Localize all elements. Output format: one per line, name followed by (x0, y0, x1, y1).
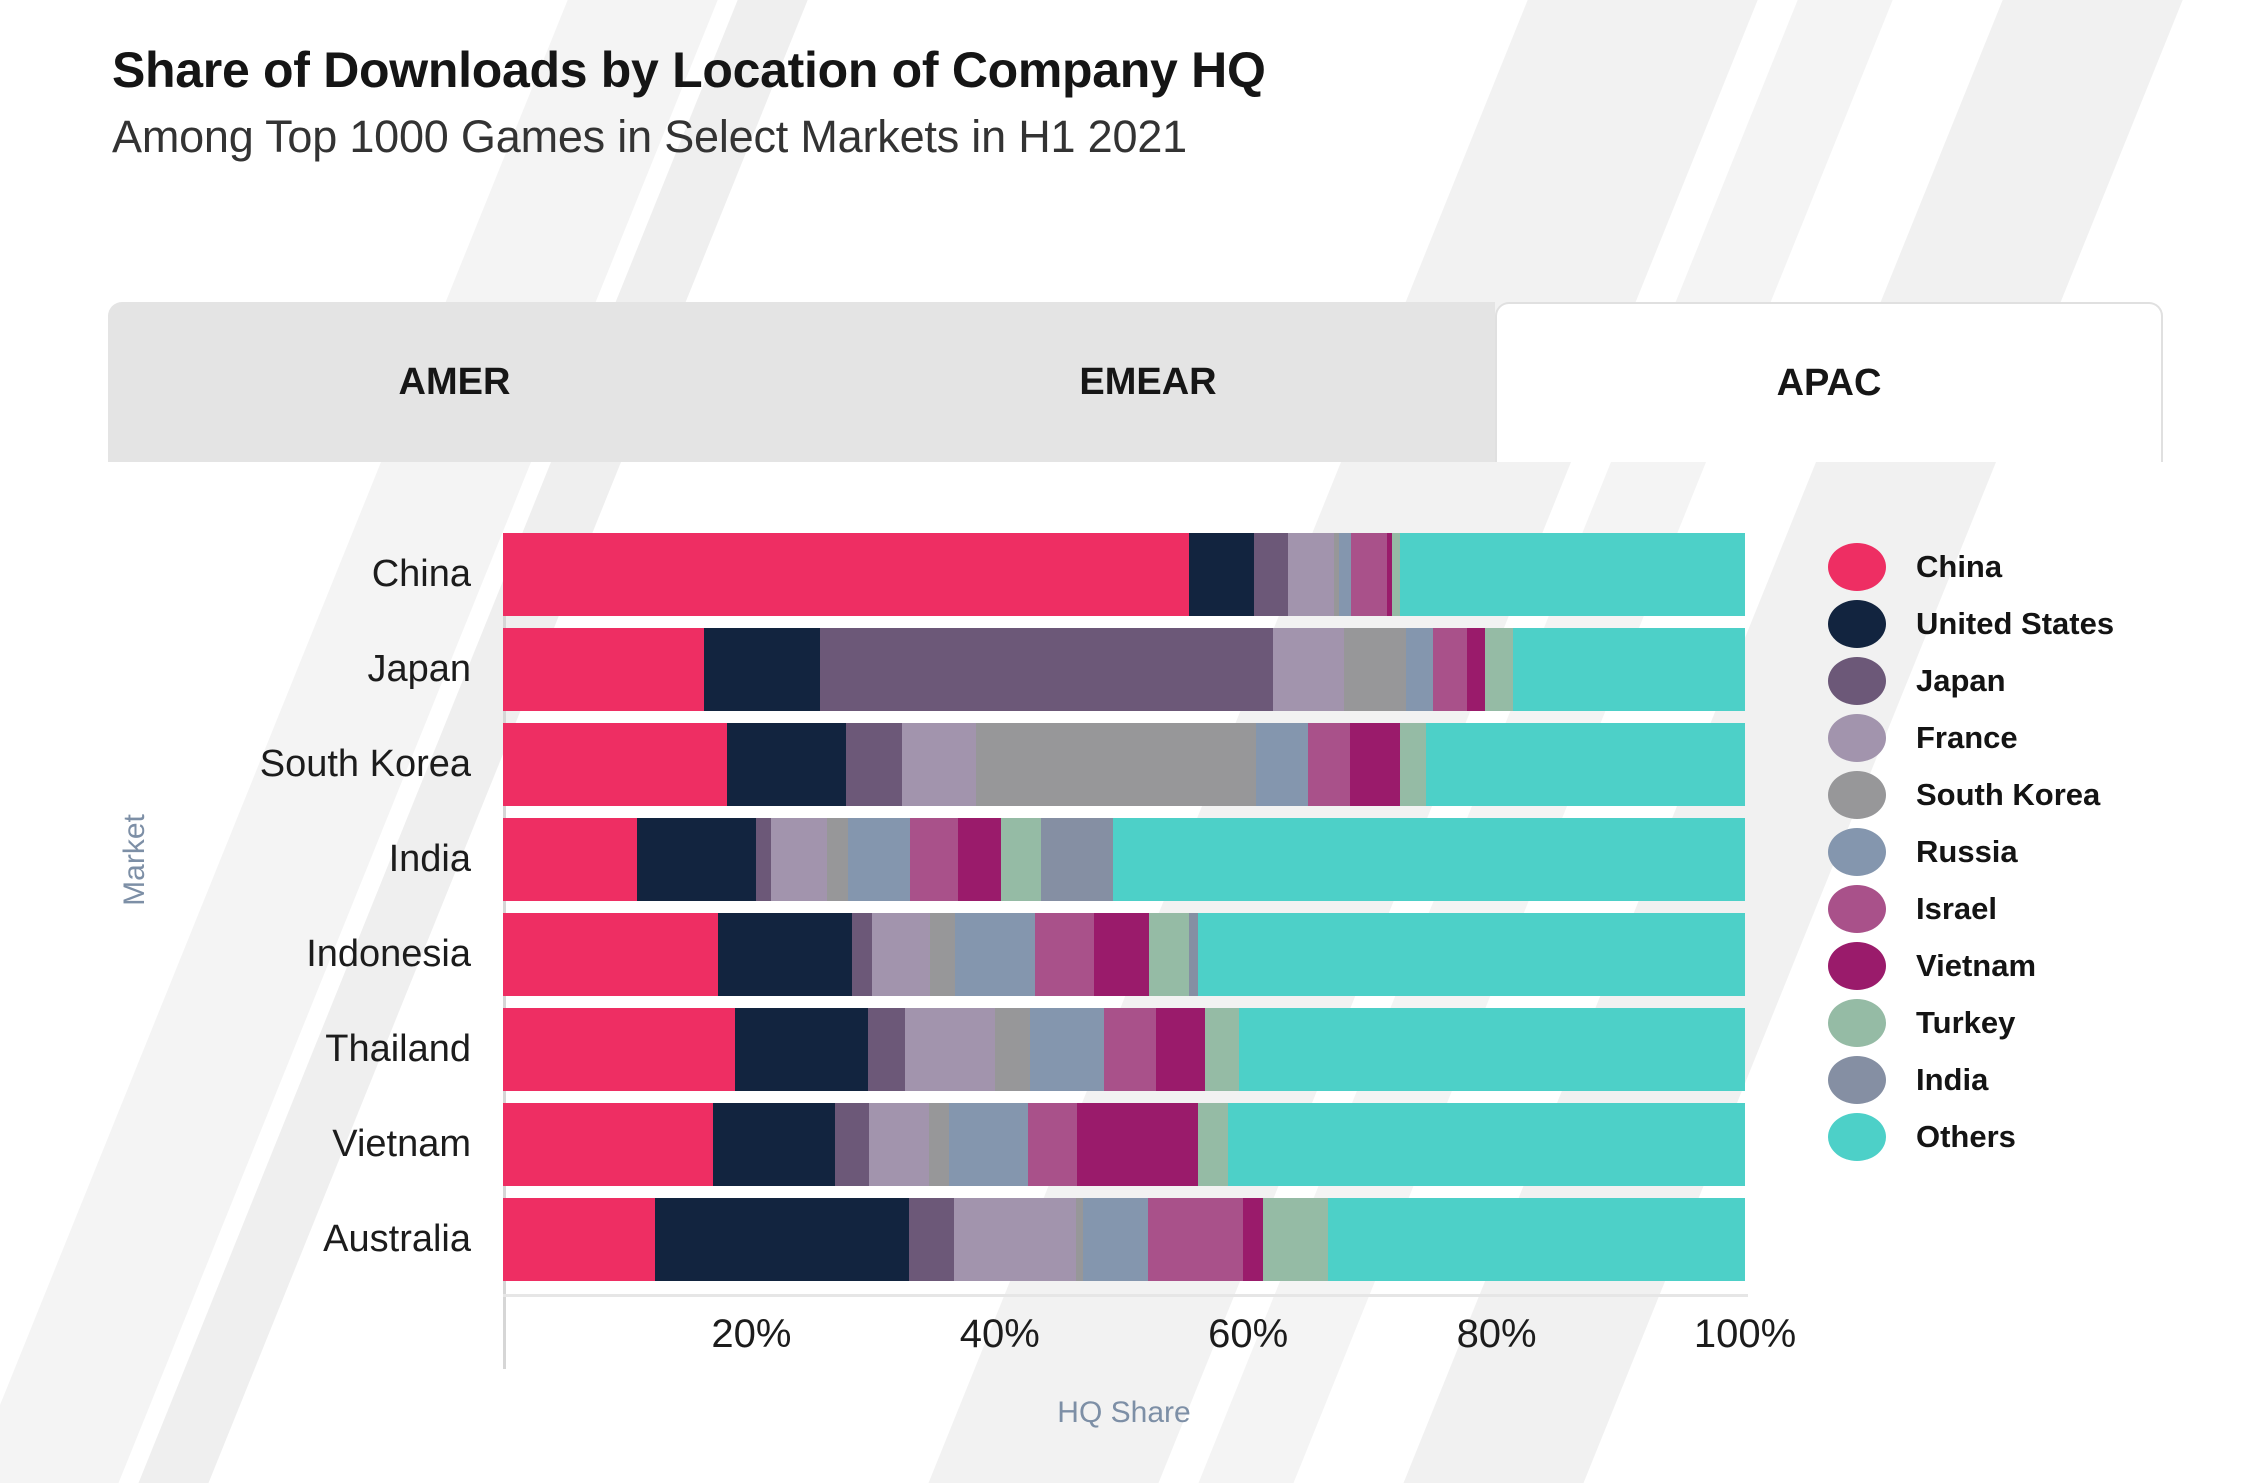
bar-segment[interactable] (1243, 1198, 1263, 1281)
bar-segment[interactable] (503, 723, 727, 806)
bar-row[interactable]: Vietnam (503, 1103, 1745, 1186)
legend-item-label: Others (1916, 1119, 2016, 1155)
bar-segment[interactable] (503, 1198, 655, 1281)
bar-segment[interactable] (503, 533, 1189, 616)
bar-segment[interactable] (718, 913, 852, 996)
bar-segment[interactable] (1400, 723, 1426, 806)
bar-segment[interactable] (995, 1008, 1030, 1091)
legend-item[interactable]: Others (1828, 1108, 2114, 1165)
bar-segment[interactable] (503, 628, 704, 711)
bar-row[interactable]: China (503, 533, 1745, 616)
legend-swatch-icon (1828, 600, 1886, 648)
bar-segment[interactable] (1513, 628, 1745, 711)
bar-segment[interactable] (713, 1103, 835, 1186)
bar-segment[interactable] (1148, 1198, 1244, 1281)
y-axis-label: Vietnam (332, 1103, 503, 1186)
x-axis-tick-label: 100% (1694, 1312, 1796, 1357)
page-title: Share of Downloads by Location of Compan… (112, 42, 1266, 100)
bar-segment[interactable] (820, 628, 1273, 711)
chart-page: Share of Downloads by Location of Compan… (0, 0, 2250, 1483)
bar-segment[interactable] (1035, 913, 1095, 996)
page-subtitle: Among Top 1000 Games in Select Markets i… (112, 108, 1266, 167)
bar-segment[interactable] (1189, 913, 1199, 996)
legend-swatch-icon (1828, 885, 1886, 933)
bar-segment[interactable] (958, 818, 1001, 901)
legend-swatch-icon (1828, 1056, 1886, 1104)
legend-item-label: Russia (1916, 834, 2018, 870)
y-axis-label: South Korea (260, 723, 503, 806)
region-tabs: AMER EMEAR APAC (108, 302, 2163, 462)
legend-item-label: China (1916, 549, 2002, 585)
y-axis-label: Japan (367, 628, 503, 711)
bar-segment[interactable] (1485, 628, 1512, 711)
bar-segment[interactable] (835, 1103, 870, 1186)
bar-segment[interactable] (1426, 723, 1745, 806)
bar-segment[interactable] (1149, 913, 1189, 996)
bar-segment[interactable] (1030, 1008, 1105, 1091)
bar-segment[interactable] (872, 913, 930, 996)
x-axis-line (503, 1294, 1748, 1297)
x-axis-title: HQ Share (503, 1396, 1745, 1430)
bar-segment[interactable] (503, 1103, 713, 1186)
legend-item[interactable]: Vietnam (1828, 937, 2114, 994)
bar-row[interactable]: Thailand (503, 1008, 1745, 1091)
bar-segment[interactable] (868, 1008, 905, 1091)
bar-segment[interactable] (503, 913, 718, 996)
bar-segment[interactable] (1256, 723, 1308, 806)
bar-segment[interactable] (1350, 723, 1400, 806)
bar-row[interactable]: Australia (503, 1198, 1745, 1281)
bar-segment[interactable] (848, 818, 910, 901)
legend-swatch-icon (1828, 828, 1886, 876)
legend-swatch-icon (1828, 657, 1886, 705)
legend-item-label: Japan (1916, 663, 2006, 699)
y-axis-label: Thailand (325, 1008, 503, 1091)
legend-swatch-icon (1828, 771, 1886, 819)
bar-segment[interactable] (1205, 1008, 1240, 1091)
bar-segment[interactable] (756, 818, 771, 901)
bar-segment[interactable] (1028, 1103, 1076, 1186)
legend-swatch-icon (1828, 1113, 1886, 1161)
bar-segment[interactable] (1344, 628, 1406, 711)
bar-segment[interactable] (727, 723, 846, 806)
bar-segment[interactable] (976, 723, 1255, 806)
x-axis-tick-label: 20% (711, 1312, 791, 1357)
bar-segment[interactable] (1328, 1198, 1745, 1281)
bar-segment[interactable] (1156, 1008, 1204, 1091)
legend-swatch-icon (1828, 999, 1886, 1047)
legend-swatch-icon (1828, 543, 1886, 591)
bar-segment[interactable] (1433, 628, 1467, 711)
bar-segment[interactable] (910, 818, 957, 901)
bar-segment[interactable] (1113, 818, 1745, 901)
bar-segment[interactable] (637, 818, 756, 901)
legend-item-label: Vietnam (1916, 948, 2036, 984)
bar-segment[interactable] (1339, 533, 1351, 616)
legend-item-label: Israel (1916, 891, 1997, 927)
legend-item-label: India (1916, 1062, 1988, 1098)
bar-segment[interactable] (503, 1008, 735, 1091)
legend-item-label: South Korea (1916, 777, 2100, 813)
legend-swatch-icon (1828, 942, 1886, 990)
bar-segment[interactable] (1189, 533, 1255, 616)
bar-segment[interactable] (954, 1198, 1076, 1281)
y-axis-label: China (372, 533, 503, 616)
legend-swatch-icon (1828, 714, 1886, 762)
bar-segment[interactable] (902, 723, 977, 806)
legend-item[interactable]: India (1828, 1051, 2114, 1108)
tab-emear[interactable]: EMEAR (801, 302, 1495, 462)
x-axis-tick-label: 80% (1457, 1312, 1537, 1357)
bar-segment[interactable] (1254, 533, 1288, 616)
bar-row[interactable]: South Korea (503, 723, 1745, 806)
y-axis-label: Australia (323, 1198, 503, 1281)
bar-segment[interactable] (1392, 533, 1399, 616)
y-axis-title: Market (118, 814, 152, 906)
bar-segment[interactable] (909, 1198, 954, 1281)
x-axis-ticks: 20%40%60%80%100% (503, 1312, 1745, 1372)
bar-segment[interactable] (827, 818, 848, 901)
bar-row[interactable]: India (503, 818, 1745, 901)
chart-legend: ChinaUnited StatesJapanFranceSouth Korea… (1828, 538, 2114, 1165)
chart-header: Share of Downloads by Location of Compan… (112, 42, 1266, 166)
bar-segment[interactable] (1239, 1008, 1744, 1091)
bar-row[interactable]: Japan (503, 628, 1745, 711)
tab-amer[interactable]: AMER (108, 302, 801, 462)
bar-segment[interactable] (1083, 1198, 1148, 1281)
bar-segment[interactable] (1228, 1103, 1745, 1186)
legend-item[interactable]: Turkey (1828, 994, 2114, 1051)
legend-item-label: United States (1916, 606, 2114, 642)
legend-item[interactable]: Japan (1828, 652, 2114, 709)
bar-segment[interactable] (1308, 723, 1350, 806)
y-axis-label: India (389, 818, 503, 901)
bar-segment[interactable] (771, 818, 827, 901)
bar-segment[interactable] (1467, 628, 1486, 711)
bar-segment[interactable] (1198, 913, 1744, 996)
bar-segment[interactable] (1351, 533, 1387, 616)
bar-segment[interactable] (503, 818, 637, 901)
legend-item[interactable]: United States (1828, 595, 2114, 652)
bar-segment[interactable] (929, 1103, 949, 1186)
bar-segment[interactable] (1076, 1198, 1083, 1281)
bar-segment[interactable] (735, 1008, 868, 1091)
legend-item-label: Turkey (1916, 1005, 2015, 1041)
bar-segment[interactable] (1094, 913, 1149, 996)
legend-item[interactable]: France (1828, 709, 2114, 766)
bar-segment[interactable] (1104, 1008, 1156, 1091)
bar-segment[interactable] (1263, 1198, 1328, 1281)
bar-segment[interactable] (1198, 1103, 1228, 1186)
bar-segment[interactable] (852, 913, 872, 996)
legend-item[interactable]: China (1828, 538, 2114, 595)
bar-segment[interactable] (704, 628, 820, 711)
tab-apac[interactable]: APAC (1495, 302, 2163, 462)
bar-segment[interactable] (955, 913, 1034, 996)
legend-item[interactable]: Israel (1828, 880, 2114, 937)
bar-segment[interactable] (1041, 818, 1113, 901)
bar-segment[interactable] (1400, 533, 1745, 616)
bar-segment[interactable] (1273, 628, 1344, 711)
bar-segment[interactable] (930, 913, 955, 996)
bar-row[interactable]: Indonesia (503, 913, 1745, 996)
bar-segment[interactable] (905, 1008, 994, 1091)
y-axis-label: Indonesia (306, 913, 503, 996)
bar-segment[interactable] (1077, 1103, 1199, 1186)
bar-segment[interactable] (1001, 818, 1041, 901)
bar-segment[interactable] (869, 1103, 929, 1186)
x-axis-tick-label: 60% (1208, 1312, 1288, 1357)
bar-segment[interactable] (949, 1103, 1028, 1186)
bar-segment[interactable] (1288, 533, 1334, 616)
stacked-bar-rows: ChinaJapanSouth KoreaIndiaIndonesiaThail… (503, 533, 1745, 1281)
legend-item-label: France (1916, 720, 2018, 756)
bar-segment[interactable] (655, 1198, 910, 1281)
bar-segment[interactable] (846, 723, 902, 806)
legend-item[interactable]: South Korea (1828, 766, 2114, 823)
bar-segment[interactable] (1406, 628, 1433, 711)
legend-item[interactable]: Russia (1828, 823, 2114, 880)
x-axis-tick-label: 40% (960, 1312, 1040, 1357)
